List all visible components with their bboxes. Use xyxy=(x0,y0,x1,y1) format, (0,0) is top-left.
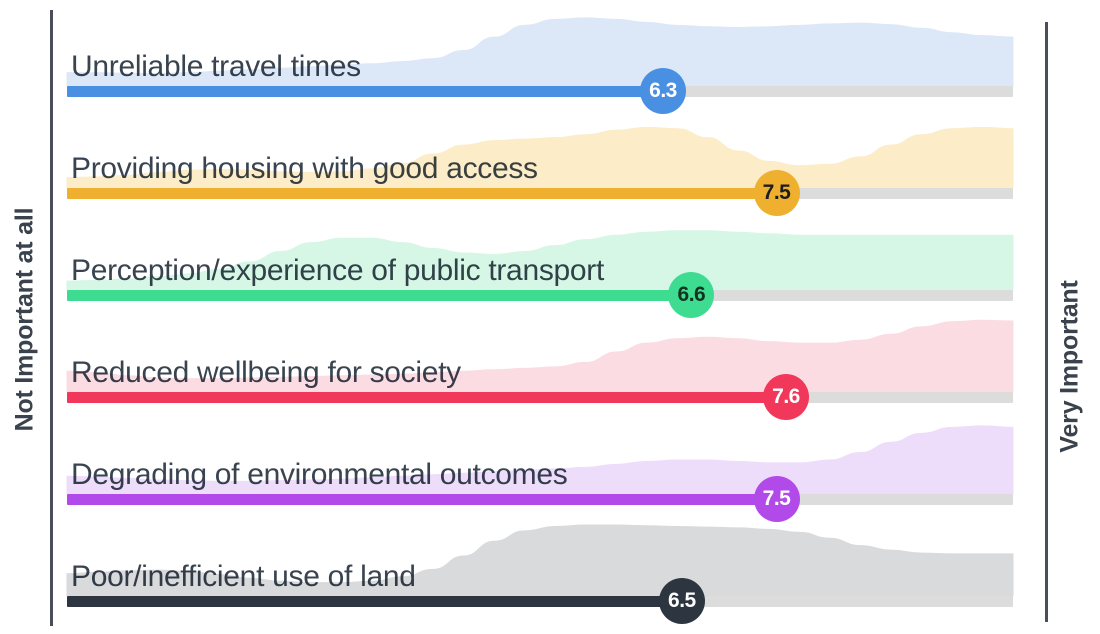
category-label: Unreliable travel times xyxy=(71,52,361,82)
ridge-rows-container: Unreliable travel times6.3Providing hous… xyxy=(0,0,1100,634)
score-bar xyxy=(67,86,663,97)
score-bar xyxy=(67,188,777,199)
category-label: Perception/experience of public transpor… xyxy=(71,256,604,286)
score-bar xyxy=(67,290,691,301)
ridge-row: Perception/experience of public transpor… xyxy=(67,212,1013,301)
ridge-row: Degrading of environmental outcomes7.5 xyxy=(67,416,1013,505)
score-bar xyxy=(67,494,777,505)
chart-canvas: Not Important at all Very Important Unre… xyxy=(0,0,1100,634)
ridge-row: Poor/inefficient use of land6.5 xyxy=(67,518,1013,607)
value-bubble: 6.3 xyxy=(640,68,686,114)
value-bubble: 7.5 xyxy=(754,476,800,522)
value-bubble: 6.6 xyxy=(668,272,714,318)
value-bubble: 7.6 xyxy=(763,374,809,420)
category-label: Degrading of environmental outcomes xyxy=(71,460,567,490)
score-bar xyxy=(67,596,682,607)
value-bubble: 7.5 xyxy=(754,170,800,216)
ridge-row: Unreliable travel times6.3 xyxy=(67,8,1013,97)
category-label: Providing housing with good access xyxy=(71,154,538,184)
category-label: Reduced wellbeing for society xyxy=(71,358,461,388)
ridge-row: Providing housing with good access7.5 xyxy=(67,110,1013,199)
score-bar xyxy=(67,392,786,403)
category-label: Poor/inefficient use of land xyxy=(71,562,416,592)
ridge-row: Reduced wellbeing for society7.6 xyxy=(67,314,1013,403)
value-bubble: 6.5 xyxy=(659,578,705,624)
